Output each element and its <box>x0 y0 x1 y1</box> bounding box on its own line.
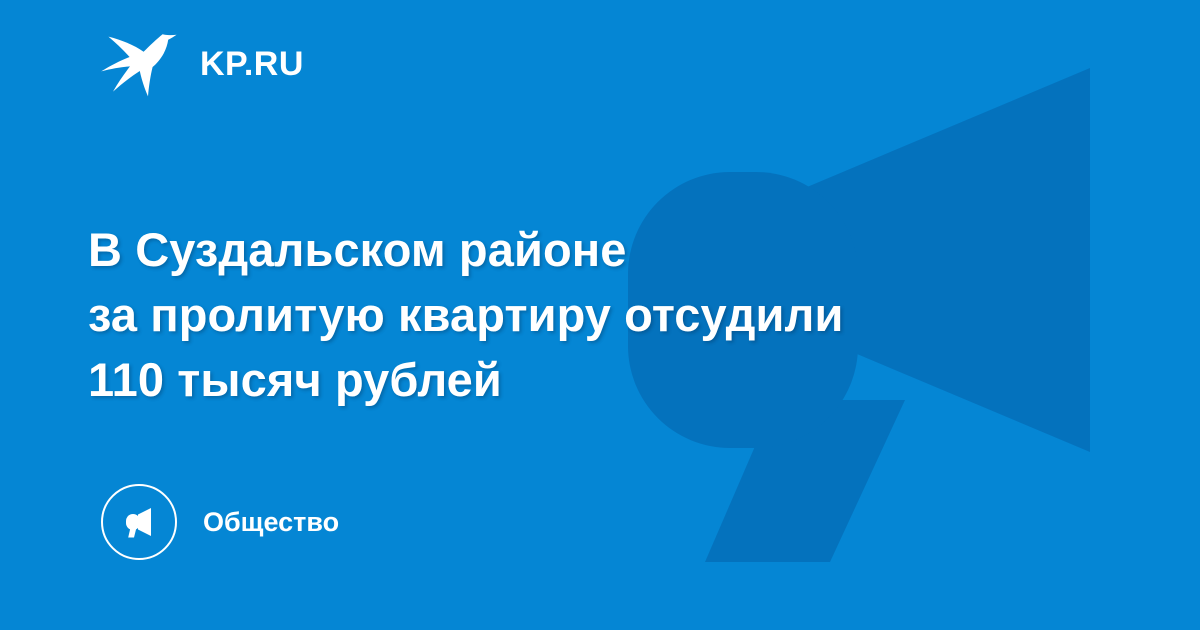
share-card: KP.RU В Суздальском районе за пролитую к… <box>0 0 1200 630</box>
brand-wordmark: KP.RU <box>200 47 304 81</box>
swallow-bird-icon <box>100 30 178 98</box>
headline: В Суздальском районе за пролитую квартир… <box>88 217 1048 412</box>
megaphone-icon <box>119 502 159 542</box>
rubric-label: Общество <box>203 509 339 536</box>
brand-header[interactable]: KP.RU <box>100 30 304 98</box>
rubric-icon-circle <box>101 484 177 560</box>
rubric-badge[interactable]: Общество <box>101 484 339 560</box>
